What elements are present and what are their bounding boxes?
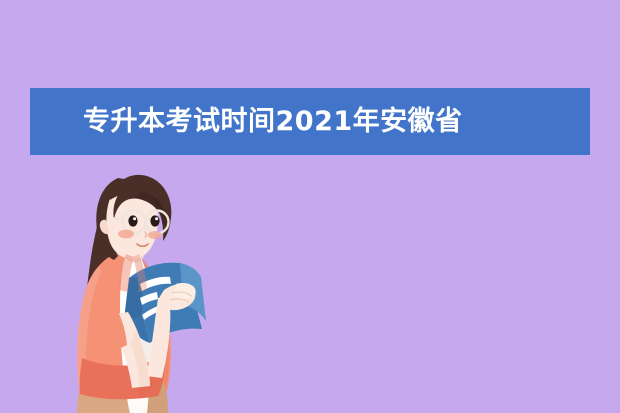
page-title: 专升本考试时间2021年安徽省 <box>83 108 463 135</box>
title-banner: 专升本考试时间2021年安徽省 <box>30 88 590 155</box>
poster-canvas: 专升本考试时间2021年安徽省 <box>0 0 620 413</box>
girl-reading-book-illustration <box>40 160 220 413</box>
girl-reading-book-icon <box>40 160 220 413</box>
